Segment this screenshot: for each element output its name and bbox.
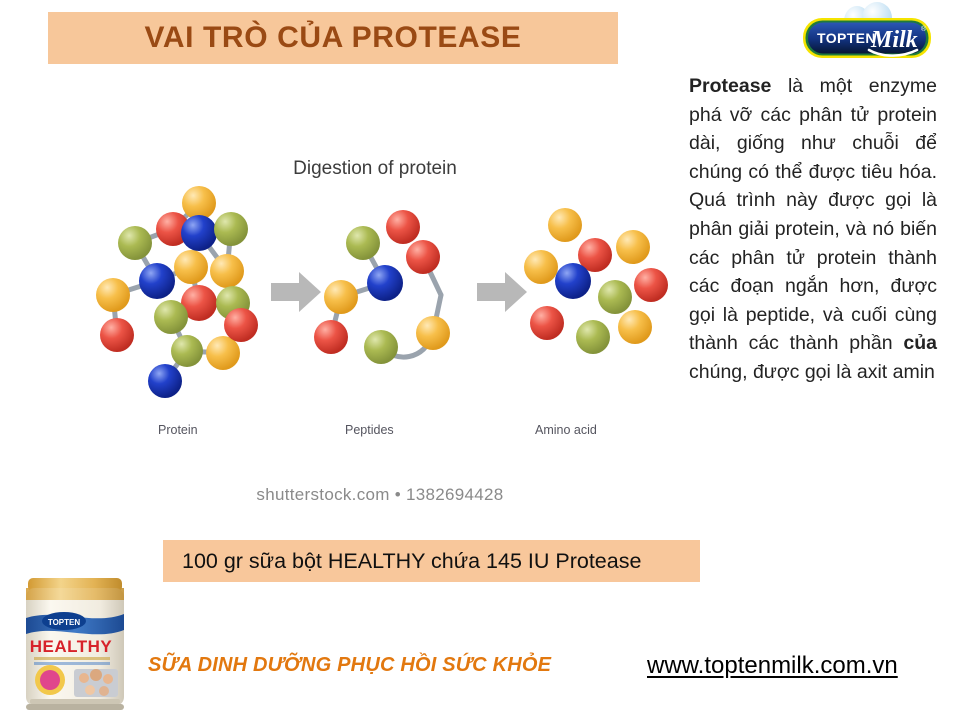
svg-text:HEALTHY: HEALTHY: [30, 637, 113, 656]
paragraph-emphasis: của: [903, 332, 937, 354]
amino-acid-cluster: [524, 208, 668, 354]
protein-cluster: [96, 186, 258, 398]
brand-tagline: SỮA DINH DƯỠNG PHỤC HỒI SỨC KHỎE: [148, 654, 551, 677]
topten-milk-logo: TOPTEN Milk ®: [795, 2, 945, 64]
stage-label-amino-acid: Amino acid: [535, 423, 597, 437]
protease-description: Protease là một enzyme phá vỡ các phân t…: [689, 72, 937, 387]
stage-label-peptides: Peptides: [345, 423, 394, 437]
svg-text:®: ®: [921, 25, 927, 33]
digestion-diagram: Digestion of protein: [95, 140, 675, 520]
svg-text:TOPTEN: TOPTEN: [817, 30, 876, 46]
slide-root: VAI TRÒ CỦA PROTEASE TOPTEN Milk: [0, 0, 960, 720]
diagram-heading: Digestion of protein: [255, 158, 495, 180]
healthy-milk-can: TOPTEN HEALTHY: [16, 568, 134, 716]
paragraph-body-2: chúng, được gọi là axit amin: [689, 361, 935, 383]
info-banner: 100 gr sữa bột HEALTHY chứa 145 IU Prote…: [163, 540, 700, 582]
title-banner: VAI TRÒ CỦA PROTEASE: [48, 12, 618, 64]
stock-image-credit: shutterstock.com • 1382694428: [230, 485, 530, 505]
paragraph-lead: Protease: [689, 75, 771, 97]
stage-label-protein: Protein: [158, 423, 198, 437]
arrow-protein-to-peptides: [271, 272, 321, 312]
svg-text:Milk: Milk: [870, 27, 918, 53]
molecule-illustration: [95, 185, 675, 420]
website-url[interactable]: www.toptenmilk.com.vn: [647, 652, 898, 680]
info-banner-text: 100 gr sữa bột HEALTHY chứa 145 IU Prote…: [163, 549, 641, 574]
paragraph-body-1: là một enzyme phá vỡ các phân tử protein…: [689, 75, 937, 354]
peptides-cluster: [314, 210, 450, 364]
arrow-peptides-to-amino: [477, 272, 527, 312]
page-title: VAI TRÒ CỦA PROTEASE: [144, 23, 521, 53]
svg-text:TOPTEN: TOPTEN: [48, 618, 81, 627]
